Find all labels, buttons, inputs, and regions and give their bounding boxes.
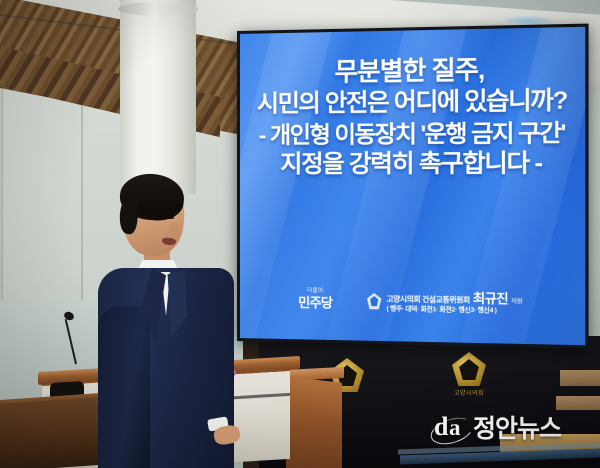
council-emblem-icon [367,293,381,310]
watermark-letter-d: d [434,414,448,440]
member-organization: 고양시의회 건설교통위원회 [387,295,470,305]
nose [170,222,179,235]
slide-line-4: 지정을 강력히 촉구합니다 - [244,149,581,178]
party-prefix: 더불어 [298,289,332,295]
member-credit: 고양시의회 건설교통위원회 최규진 의원 ( 행주· 대덕· 화전1· 화전2·… [367,289,522,315]
member-row: 고양시의회 건설교통위원회 최규진 의원 [387,290,523,307]
white-column [120,0,196,194]
wood-trim [556,396,600,410]
screen-surface: 무분별한 질주, 시민의 안전은 어디에 있습니까? - 개인형 이동장치 '운… [240,27,585,345]
watermark-letter-a: a [449,416,461,439]
member-name: 최규진 [473,291,508,306]
member-text: 고양시의회 건설교통위원회 최규진 의원 ( 행주· 대덕· 화전1· 화전2·… [387,290,523,316]
news-watermark: d a 정안뉴스 [432,414,561,444]
wood-trim [560,370,600,386]
member-districts: ( 행주· 대덕· 화전1· 화전2· 행신3· 행신4 ) [387,305,523,315]
slide-line-1: 무분별한 질주, [244,54,581,89]
speaker-person [96,176,246,468]
screen-frame: 무분별한 질주, 시민의 안전은 어디에 있습니까? - 개인형 이동장치 '운… [237,24,589,349]
projection-screen: 무분별한 질주, 시민의 안전은 어디에 있습니까? - 개인형 이동장치 '운… [237,24,589,349]
watermark-logo-icon: d a [432,414,470,444]
member-title: 의원 [511,299,522,306]
watermark-text: 정안뉴스 [473,417,561,442]
party-logo: 더불어 민주당 [298,289,332,312]
emblem-label: 고양시의회 [444,388,494,397]
arm [98,306,150,468]
slide-line-2: 시민의 안전은 어디에 있습니까? [244,87,581,119]
news-photo-scene: 고양시의회 무분별한 질주, 시민의 안전은 어디에 있습니까? - 개인형 이… [0,0,600,468]
slide-headline: 무분별한 질주, 시민의 안전은 어디에 있습니까? - 개인형 이동장치 '운… [240,54,585,178]
slide-line-3: - 개인형 이동장치 '운행 금지 구간' [244,119,581,149]
white-column-cap [118,2,198,16]
podium-side [286,376,342,468]
party-name: 민주당 [298,295,332,311]
council-emblem: 고양시의회 [452,352,486,386]
slide-footer: 더불어 민주당 고양시의회 건설교통위원회 최규진 의원 [240,278,585,326]
